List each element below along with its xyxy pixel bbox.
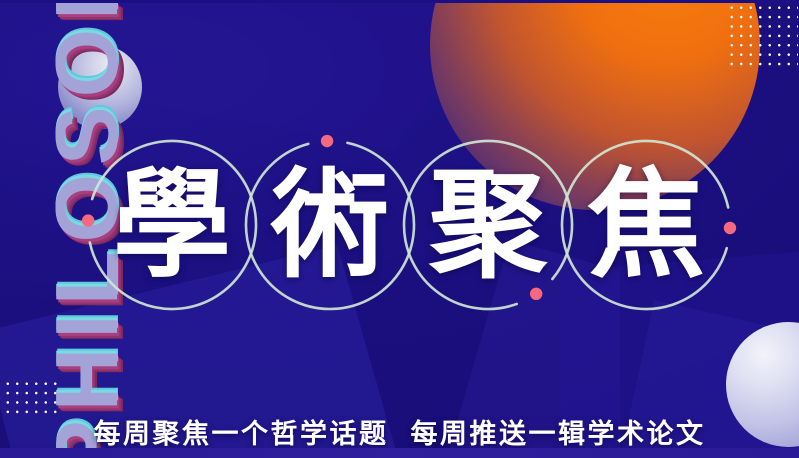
philosophy-banner: PHILOSOPHY 學 術 聚 焦 每周聚焦一个哲学话题每周推送一辑学术论文 <box>0 0 799 458</box>
headline-char-1: 學 <box>92 145 252 305</box>
dot-grid-top-right-icon <box>726 2 798 68</box>
headline-char-4: 焦 <box>566 145 726 305</box>
top-edge-band <box>0 0 799 3</box>
bottom-edge-band <box>0 448 799 458</box>
headline-char-2: 術 <box>250 145 410 305</box>
slogan-part-1: 每周聚焦一个哲学话题 <box>94 419 389 450</box>
bottom-slogan: 每周聚焦一个哲学话题每周推送一辑学术论文 <box>0 412 799 451</box>
lavender-sphere-top-left <box>58 45 142 129</box>
slogan-part-2: 每周推送一辑学术论文 <box>411 419 706 450</box>
headline-char-3: 聚 <box>408 145 568 305</box>
